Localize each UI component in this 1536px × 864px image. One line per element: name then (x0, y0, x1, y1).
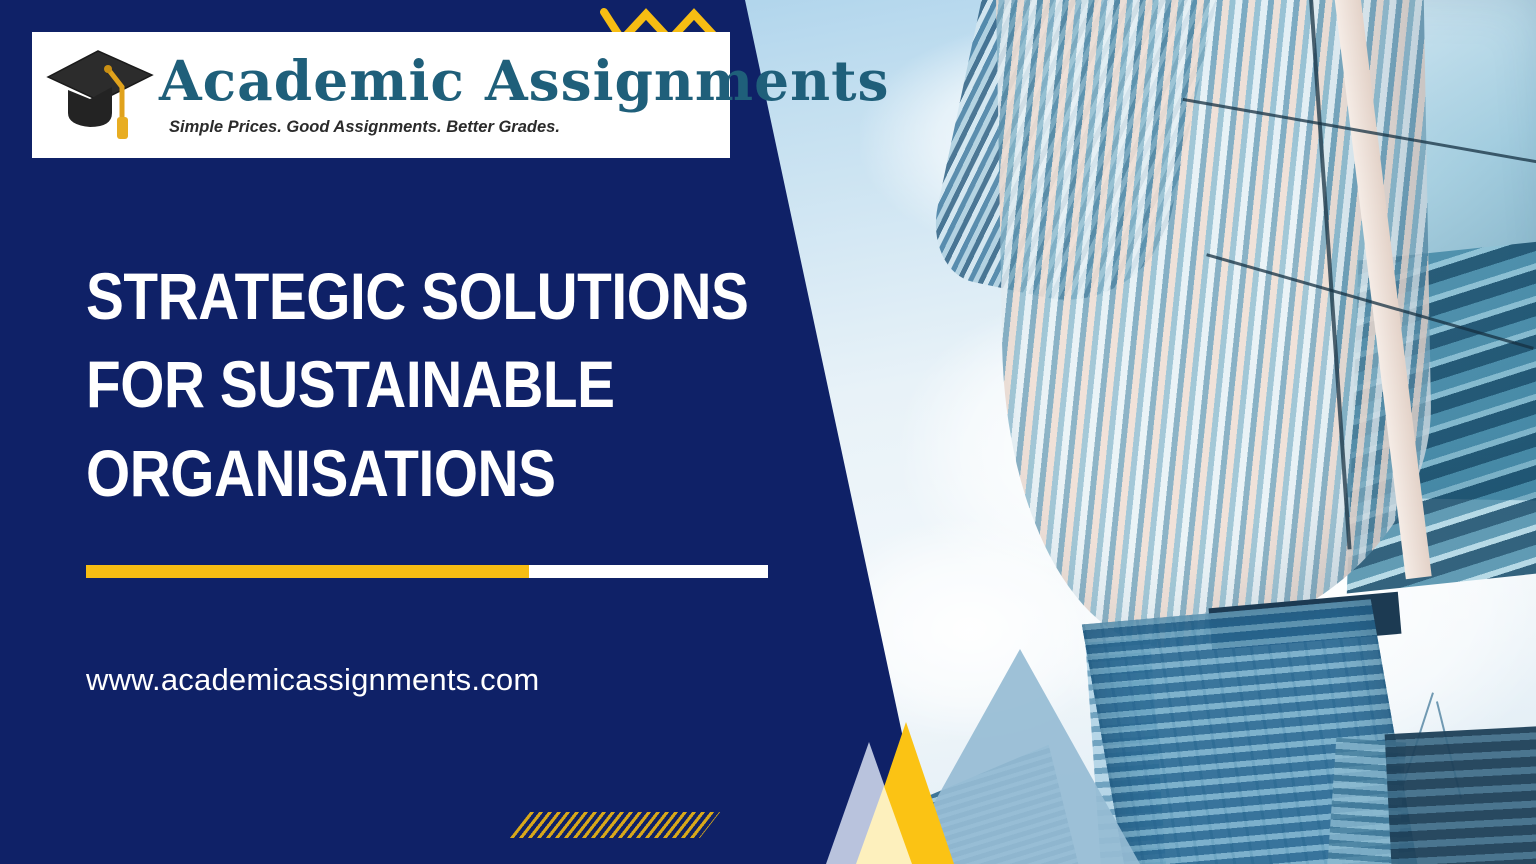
gold-diagonal-hatch (510, 812, 720, 838)
headline-line-2: FOR SUSTAINABLE (86, 340, 636, 428)
skyscraper-right-dark (1385, 726, 1536, 864)
cream-triangle (856, 786, 912, 864)
headline-line-1: STRATEGIC SOLUTIONS (86, 252, 636, 340)
divider-white-segment (529, 565, 768, 578)
logo-box[interactable]: Academic Assignments Simple Prices. Good… (32, 32, 730, 158)
promotional-banner: Academic Assignments Simple Prices. Good… (0, 0, 1536, 864)
logo-tagline: Simple Prices. Good Assignments. Better … (169, 118, 889, 137)
divider-gold-segment (86, 565, 529, 578)
page-title: STRATEGIC SOLUTIONS FOR SUSTAINABLE ORGA… (86, 252, 636, 517)
logo-text-group: Academic Assignments Simple Prices. Good… (159, 53, 889, 137)
logo-title: Academic Assignments (159, 53, 889, 108)
divider-bar (86, 565, 768, 578)
graduation-cap-icon (42, 43, 157, 148)
headline-line-3: ORGANISATIONS (86, 429, 636, 517)
website-url[interactable]: www.academicassignments.com (86, 662, 539, 698)
